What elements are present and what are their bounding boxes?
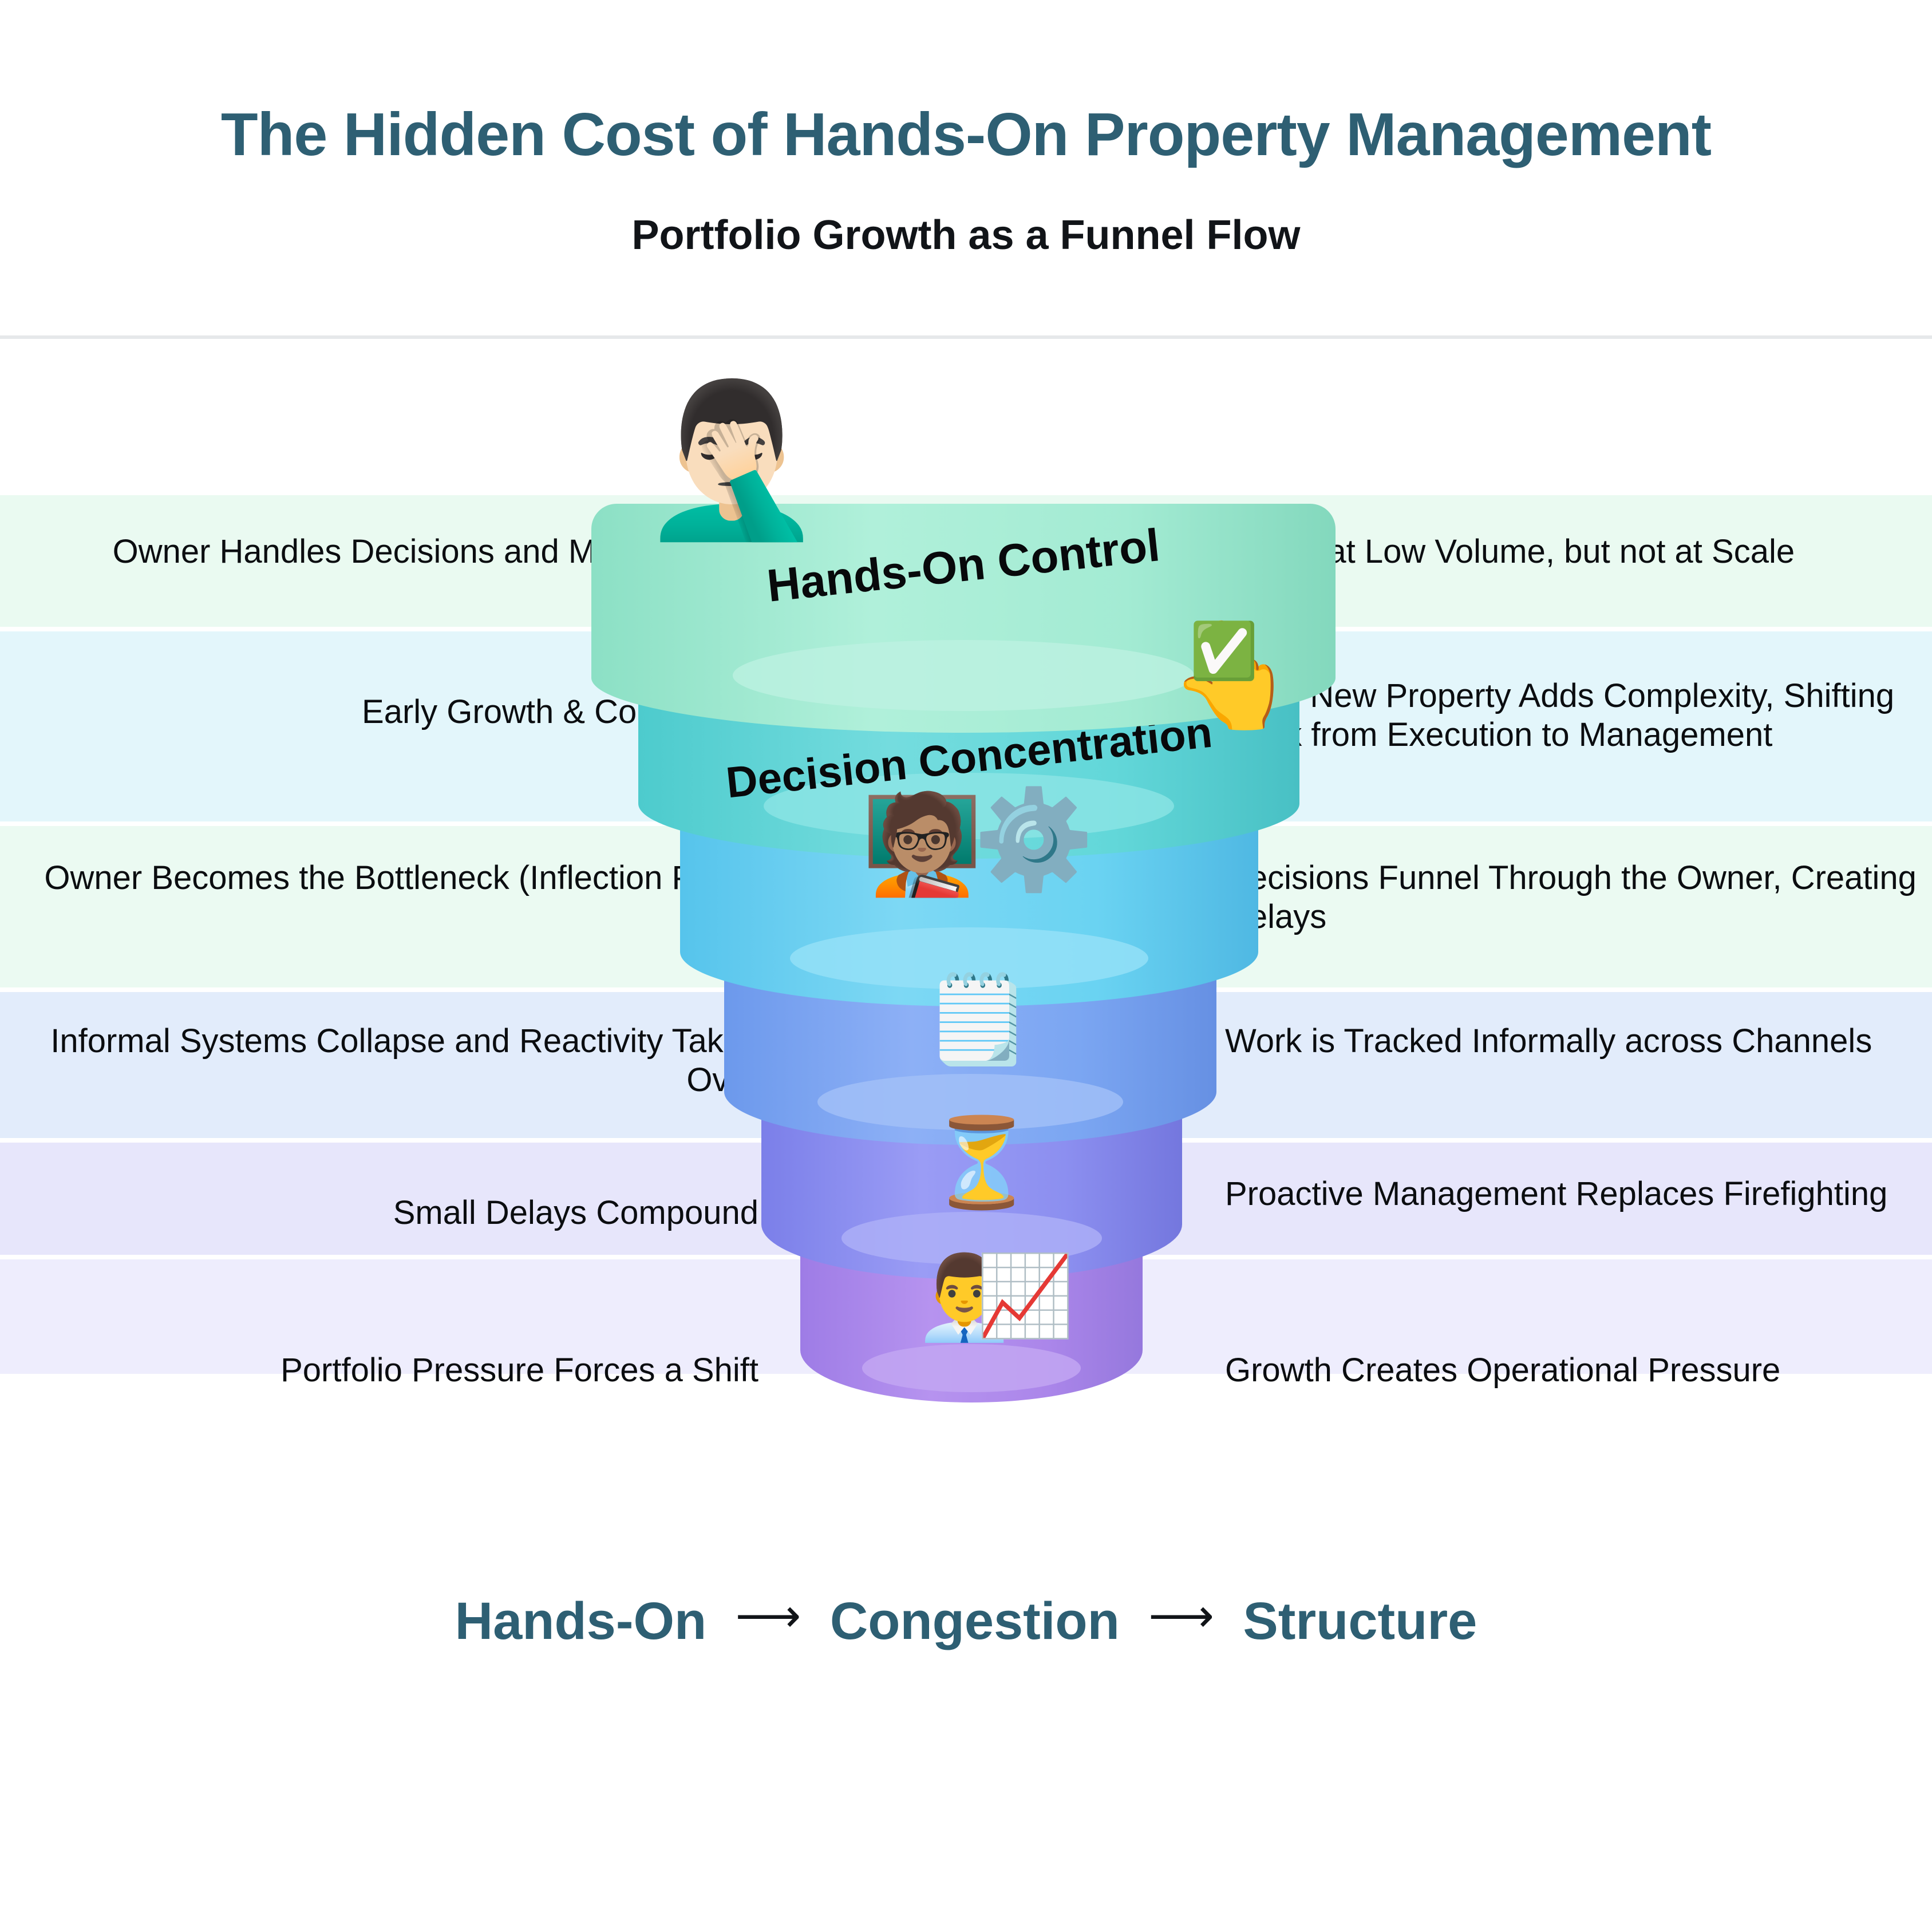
arrow-right-icon-2: ⟶ <box>1148 1589 1214 1642</box>
stage-left-label: Portfolio Pressure Forces a Shift <box>43 1351 758 1390</box>
stage-left-label: Small Delays Compound <box>43 1194 758 1232</box>
footer-step-2: Congestion <box>830 1591 1120 1652</box>
footer-step-3: Structure <box>1243 1591 1477 1652</box>
page-subtitle: Portfolio Growth as a Funnel Flow <box>0 212 1932 259</box>
stage-right-label: Works at Low Volume, but not at Scale <box>1225 532 1918 571</box>
stage-right-label: Proactive Management Replaces Firefighti… <box>1225 1175 1918 1214</box>
funnel-flow-footer: Hands-On ⟶ Congestion ⟶ Structure <box>0 1591 1932 1652</box>
stage-left-label: Informal Systems Collapse and Reactivity… <box>43 1022 758 1100</box>
arrow-right-icon-1: ⟶ <box>736 1589 801 1642</box>
stage-right-label: Growth Creates Operational Pressure <box>1225 1351 1918 1390</box>
stage-right-label: Decisions Funnel Through the Owner, Crea… <box>1225 859 1918 937</box>
stage-right-label: Work is Tracked Informally across Channe… <box>1225 1022 1918 1061</box>
header: The Hidden Cost of Hands-On Property Man… <box>0 0 1932 339</box>
footer-step-1: Hands-On <box>455 1591 707 1652</box>
stage-left-label: Owner Becomes the Bottleneck (Inflection… <box>43 859 758 898</box>
stage-left-label: Owner Handles Decisions and Maintenance <box>43 532 758 571</box>
page-title: The Hidden Cost of Hands-On Property Man… <box>0 103 1932 167</box>
stage-left-label: Early Growth & Complexity <box>43 693 758 732</box>
stage-right-label: Each New Property Adds Complexity, Shift… <box>1225 677 1918 755</box>
